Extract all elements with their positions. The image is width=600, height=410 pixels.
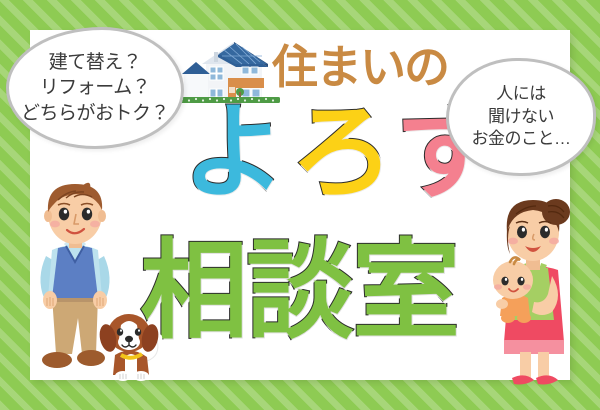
headline-subtitle: 相談室 (140, 238, 458, 346)
right-bubble-text: 人には 聞けない お金のこと… (472, 83, 571, 151)
left-bubble-text: 建て替え？ リフォーム？ どちらがおトク？ (21, 50, 169, 126)
headline-char-ro: ろ (290, 91, 398, 213)
headline-kicker: 住まいの (272, 44, 448, 90)
right-speech-bubble: 人には 聞けない お金のこと… (446, 58, 596, 176)
headline-char-yo: よ (182, 91, 290, 213)
baby-illustration (493, 257, 533, 323)
dog-illustration (97, 305, 169, 388)
left-speech-bubble: 建て替え？ リフォーム？ どちらがおトク？ (6, 27, 184, 149)
banner-root: 住まいの よろず 相談室 建て替え？ リフォーム？ どちらがおトク？ 人には 聞… (0, 0, 600, 410)
woman-with-baby-illustration (480, 192, 588, 397)
